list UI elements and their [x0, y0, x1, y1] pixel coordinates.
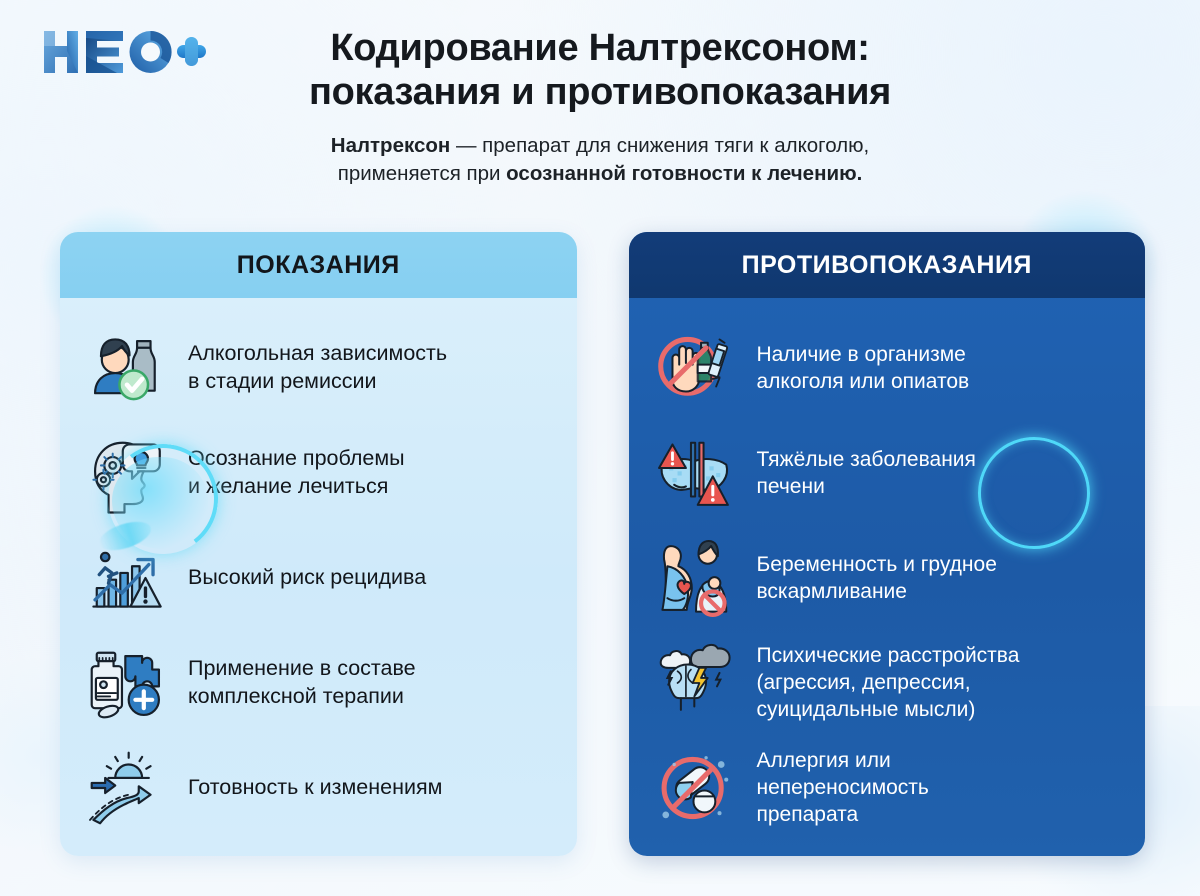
liver-warning-icon [653, 430, 739, 516]
cards-container: ПОКАЗАНИЯ [60, 232, 1145, 856]
list-item-line: вскармливание [757, 578, 997, 605]
head-gears-lightbulb-icon [84, 430, 170, 516]
list-item-text: Беременность и грудное вскармливание [757, 551, 997, 606]
list-item-line: суицидальные мысли) [757, 696, 1020, 723]
subtitle-emphasis: осознанной готовности к лечению. [506, 162, 862, 185]
list-item-line: Осознание проблемы [188, 445, 405, 473]
page-title-line-2: показания и противопоказания [160, 70, 1040, 114]
list-item: Психические расстройства (агрессия, депр… [653, 640, 1120, 726]
list-item-text: Применение в составе комплексной терапии [188, 655, 416, 711]
list-item-line: печени [757, 473, 976, 500]
page-subtitle-line-1: Налтрексон — препарат для снижения тяги … [0, 132, 1200, 160]
contraindications-card-body: Наличие в организме алкоголя или опиатов [629, 298, 1146, 856]
list-item: Беременность и грудное вскармливание [653, 535, 1120, 621]
contraindications-card-header: ПРОТИВОПОКАЗАНИЯ [629, 232, 1146, 298]
page-header: Кодирование Налтрексоном: показания и пр… [0, 0, 1200, 189]
list-item-text: Тяжёлые заболевания печени [757, 446, 976, 501]
pills-ban-icon [653, 745, 739, 831]
list-item-text: Наличие в организме алкоголя или опиатов [757, 341, 970, 396]
list-item-line: и желание лечиться [188, 473, 405, 501]
contraindications-card: ПРОТИВОПОКАЗАНИЯ [629, 232, 1146, 856]
list-item-line: Наличие в организме [757, 341, 970, 368]
list-item-line: препарата [757, 801, 929, 828]
list-item-line: непереносимость [757, 774, 929, 801]
list-item-line: Алкогольная зависимость [188, 340, 447, 368]
list-item: Осознание проблемы и желание лечиться [84, 430, 551, 516]
pregnancy-breastfeeding-ban-icon [653, 535, 739, 621]
list-item-text: Алкогольная зависимость в стадии ремисси… [188, 340, 447, 396]
stop-hand-bottle-syringe-icon [653, 325, 739, 411]
list-item: Высокий риск рецидива [84, 535, 551, 621]
indications-card: ПОКАЗАНИЯ [60, 232, 577, 856]
list-item-line: Готовность к изменениям [188, 774, 442, 802]
indications-card-body: Алкогольная зависимость в стадии ремисси… [60, 298, 577, 856]
page-subtitle-line-2: применяется при осознанной готовности к … [0, 160, 1200, 188]
list-item-line: Психические расстройства [757, 642, 1020, 669]
sunrise-road-arrow-icon [84, 745, 170, 831]
subtitle-drug-name: Налтрексон [331, 134, 451, 157]
subtitle-line-1-rest: — препарат для снижения тяги к алкоголю, [450, 134, 869, 157]
list-item-line: Аллергия или [757, 747, 929, 774]
rising-chart-warning-icon [84, 535, 170, 621]
list-item: Алкогольная зависимость в стадии ремисси… [84, 325, 551, 411]
list-item-line: (агрессия, депрессия, [757, 669, 1020, 696]
list-item-line: Беременность и грудное [757, 551, 997, 578]
medicine-bottle-puzzle-plus-icon [84, 640, 170, 726]
list-item: Аллергия или непереносимость препарата [653, 745, 1120, 831]
list-item-text: Готовность к изменениям [188, 774, 442, 802]
list-item-line: Тяжёлые заболевания [757, 446, 976, 473]
list-item-line: комплексной терапии [188, 683, 416, 711]
list-item: Готовность к изменениям [84, 745, 551, 831]
list-item: Тяжёлые заболевания печени [653, 430, 1120, 516]
brand-logo [38, 26, 208, 78]
list-item-text: Осознание проблемы и желание лечиться [188, 445, 405, 501]
list-item-text: Высокий риск рецидива [188, 564, 426, 592]
brain-storm-cloud-icon [653, 640, 739, 726]
list-item-line: Применение в составе [188, 655, 416, 683]
list-item: Применение в составе комплексной терапии [84, 640, 551, 726]
list-item-line: Высокий риск рецидива [188, 564, 426, 592]
page-subtitle: Налтрексон — препарат для снижения тяги … [0, 132, 1200, 189]
list-item-line: в стадии ремиссии [188, 368, 447, 396]
indications-card-header: ПОКАЗАНИЯ [60, 232, 577, 298]
list-item-text: Аллергия или непереносимость препарата [757, 747, 929, 829]
list-item-text: Психические расстройства (агрессия, депр… [757, 642, 1020, 724]
list-item: Наличие в организме алкоголя или опиатов [653, 325, 1120, 411]
list-item-line: алкоголя или опиатов [757, 368, 970, 395]
page-title-line-1: Кодирование Налтрексоном: [160, 26, 1040, 70]
person-bottle-check-icon [84, 325, 170, 411]
subtitle-line-2-prefix: применяется при [338, 162, 506, 185]
neo-plus-logo-icon [38, 26, 208, 78]
